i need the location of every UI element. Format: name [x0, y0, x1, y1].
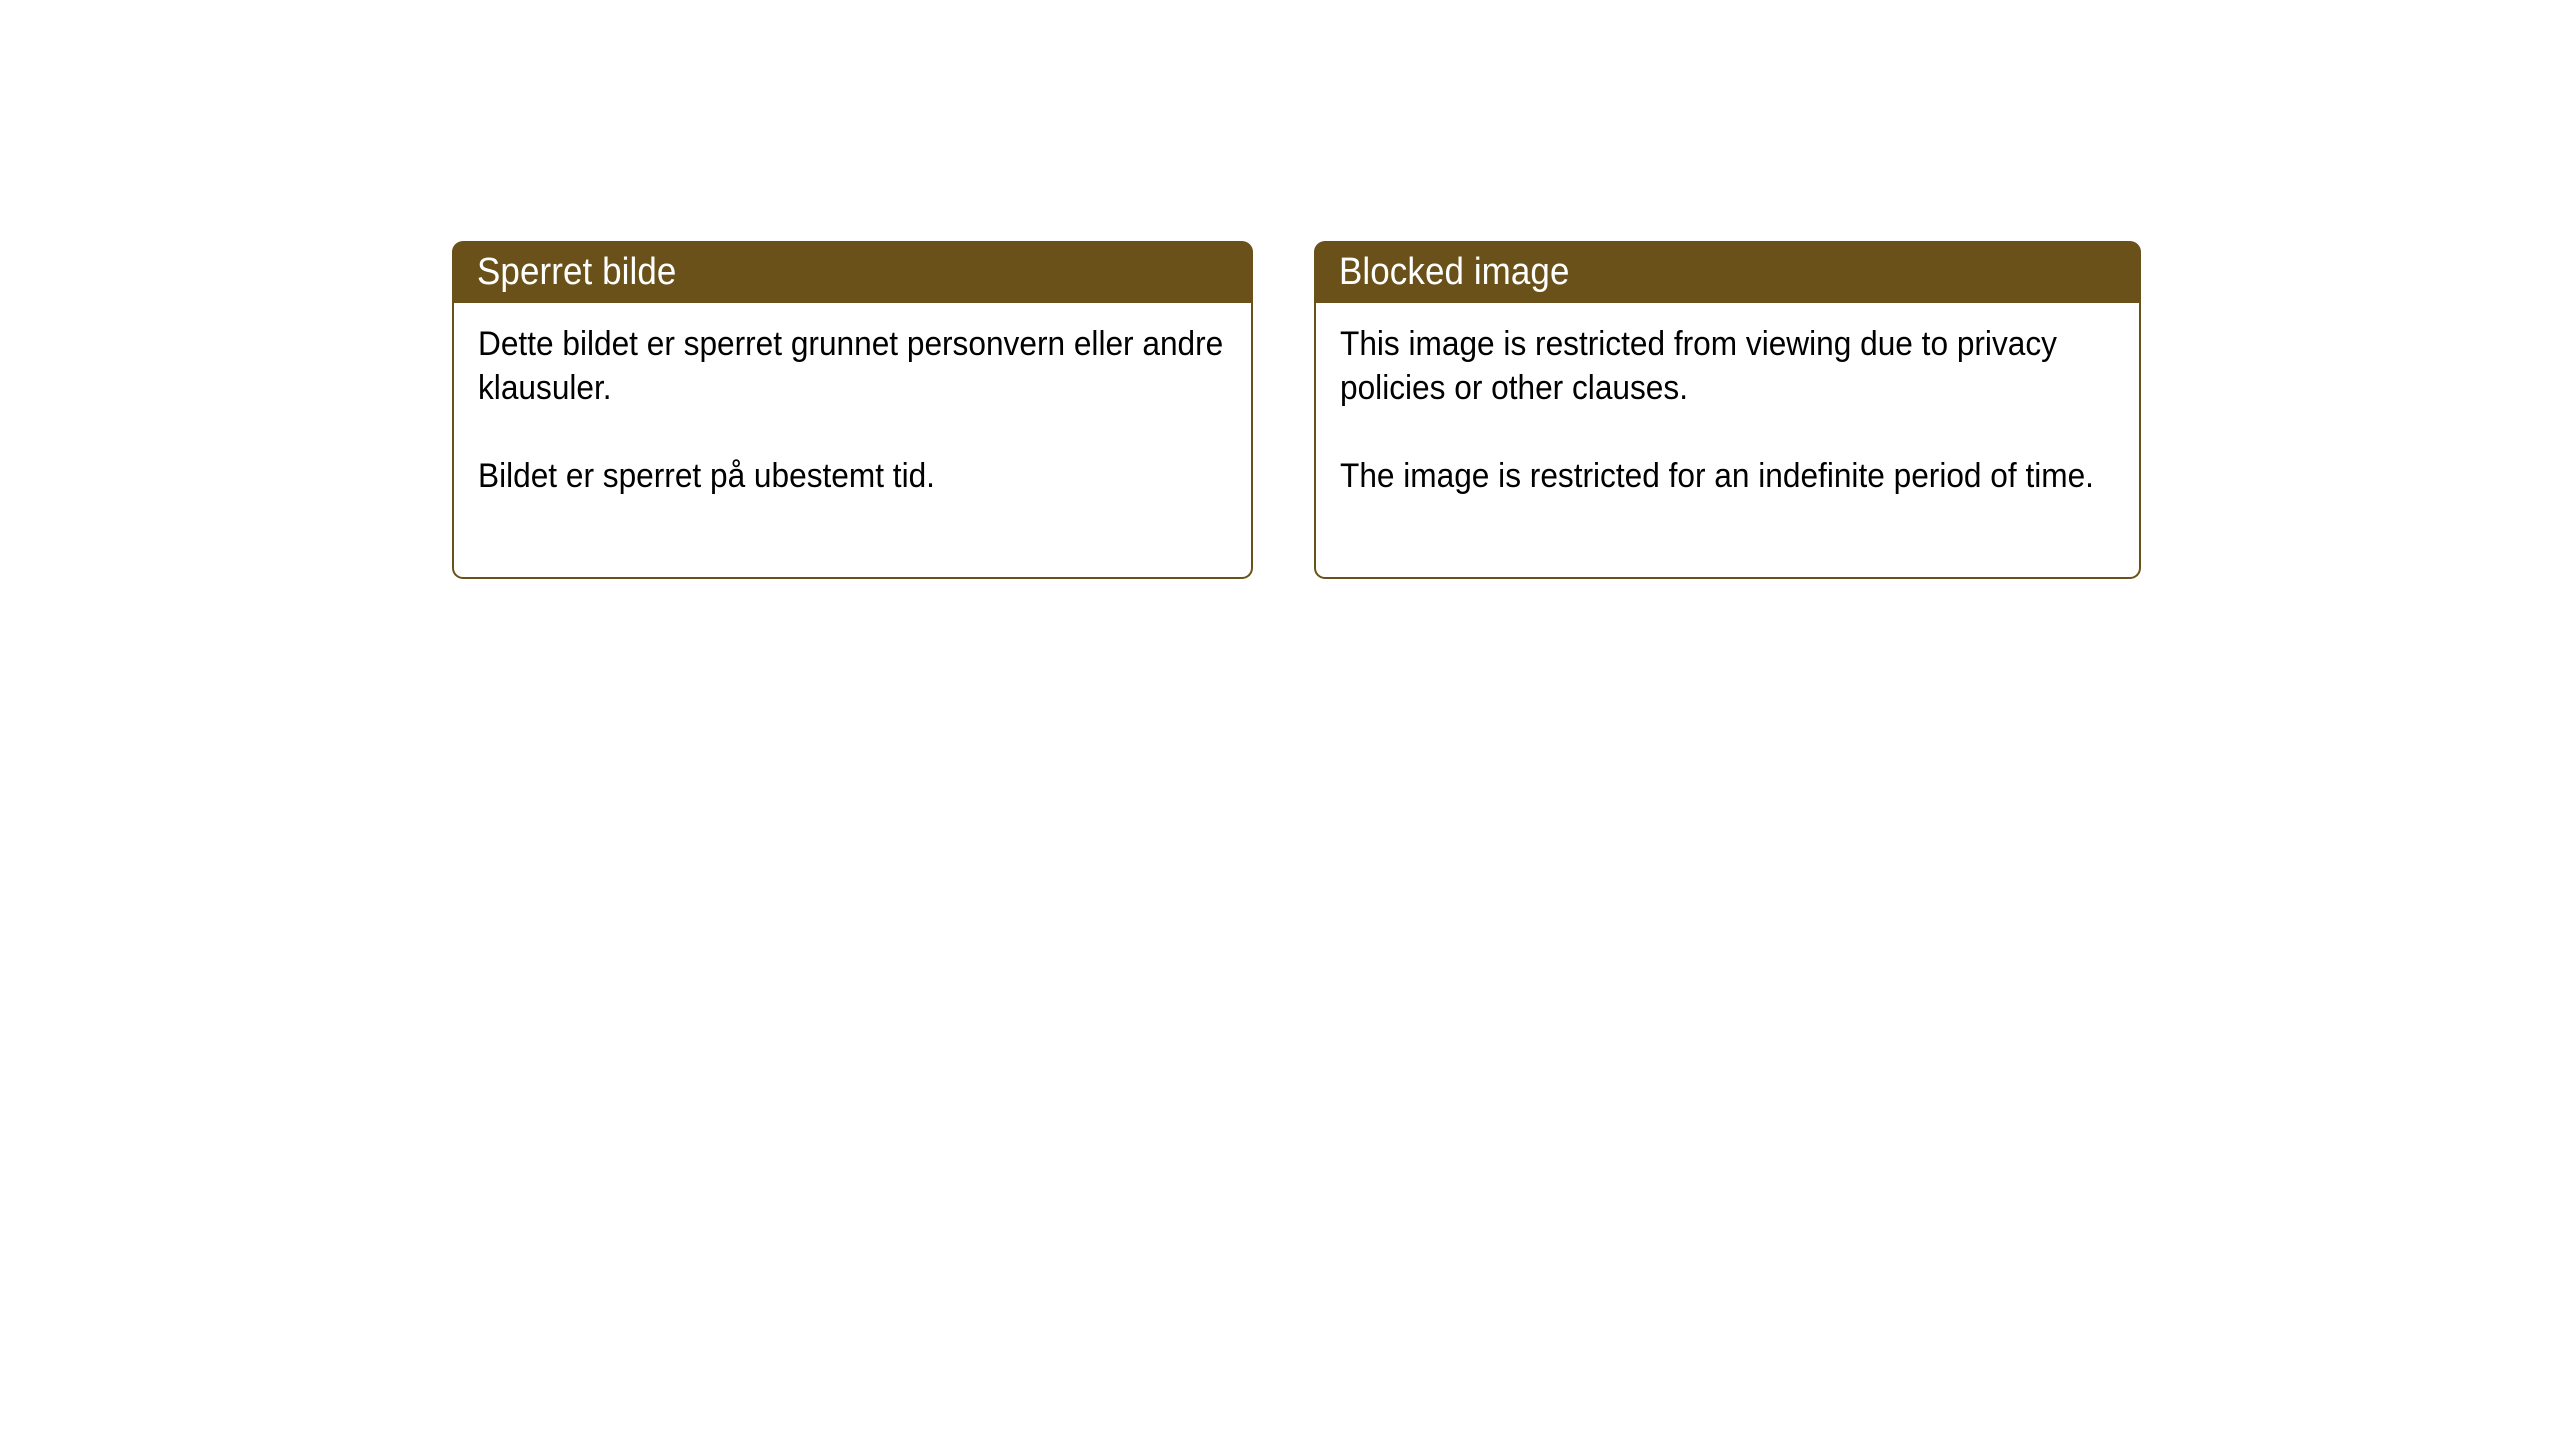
notice-body-norwegian: Dette bildet er sperret grunnet personve…	[452, 303, 1253, 579]
notice-header-english: Blocked image	[1314, 241, 2141, 303]
notice-header-norwegian: Sperret bilde	[452, 241, 1253, 303]
notice-body-english: This image is restricted from viewing du…	[1314, 303, 2141, 579]
blocked-image-notice-english: Blocked image This image is restricted f…	[1314, 241, 2141, 579]
notice-paragraph-duration-english: The image is restricted for an indefinit…	[1340, 454, 2123, 498]
blocked-image-notice-norwegian: Sperret bilde Dette bildet er sperret gr…	[452, 241, 1253, 579]
notice-paragraph-reason-english: This image is restricted from viewing du…	[1340, 322, 2123, 410]
notice-title-norwegian: Sperret bilde	[477, 250, 676, 294]
notice-paragraph-reason-norwegian: Dette bildet er sperret grunnet personve…	[478, 322, 1235, 410]
page-canvas: Sperret bilde Dette bildet er sperret gr…	[0, 0, 2560, 1440]
notice-paragraph-duration-norwegian: Bildet er sperret på ubestemt tid.	[478, 454, 1235, 498]
notice-title-english: Blocked image	[1339, 250, 1570, 294]
